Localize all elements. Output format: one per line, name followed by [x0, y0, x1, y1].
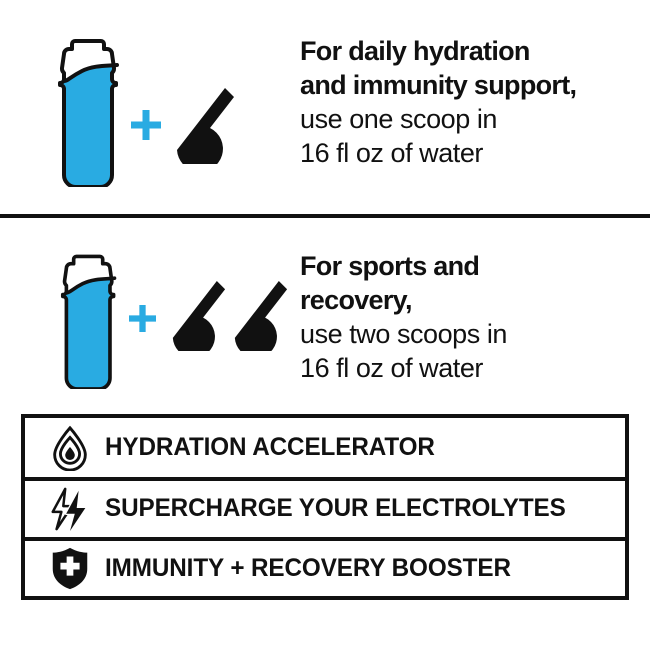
benefit-row-hydration: HYDRATION ACCELERATOR	[25, 418, 625, 477]
usage-line: recovery,	[300, 283, 650, 317]
benefit-row-electrolytes: SUPERCHARGE YOUR ELECTROLYTES	[25, 477, 625, 536]
plus-icon	[131, 110, 161, 140]
scoop-icon	[163, 84, 235, 164]
benefits-box: HYDRATION ACCELERATOR SUPERCHARGE YOUR E…	[21, 414, 629, 600]
plus-icon	[129, 305, 156, 332]
usage-line: 16 fl oz of water	[300, 351, 650, 385]
usage-line: use two scoops in	[300, 317, 650, 351]
sports-bottle-icon	[55, 251, 125, 389]
lightning-bolt-icon	[47, 486, 93, 532]
usage-line: and immunity support,	[300, 68, 650, 102]
benefit-label: SUPERCHARGE YOUR ELECTROLYTES	[105, 494, 566, 523]
section-divider	[0, 214, 650, 218]
benefit-label: IMMUNITY + RECOVERY BOOSTER	[105, 554, 511, 583]
formula-graphic-daily	[0, 28, 300, 198]
usage-copy-sports: For sports and recovery, use two scoops …	[300, 245, 650, 385]
usage-section-sports: For sports and recovery, use two scoops …	[0, 245, 650, 395]
formula-graphic-sports	[0, 245, 300, 395]
scoop-icon	[160, 277, 226, 351]
usage-line: 16 fl oz of water	[300, 136, 650, 170]
water-droplet-icon	[47, 425, 93, 471]
usage-copy-daily: For daily hydration and immunity support…	[300, 28, 650, 170]
sports-bottle-icon	[52, 35, 128, 187]
benefit-label: HYDRATION ACCELERATOR	[105, 433, 435, 462]
benefit-row-immunity: IMMUNITY + RECOVERY BOOSTER	[25, 537, 625, 596]
scoop-icon	[222, 277, 288, 351]
shield-plus-icon	[47, 545, 93, 591]
usage-line: For daily hydration	[300, 34, 650, 68]
usage-line: For sports and	[300, 249, 650, 283]
usage-section-daily: For daily hydration and immunity support…	[0, 28, 650, 198]
usage-line: use one scoop in	[300, 102, 650, 136]
